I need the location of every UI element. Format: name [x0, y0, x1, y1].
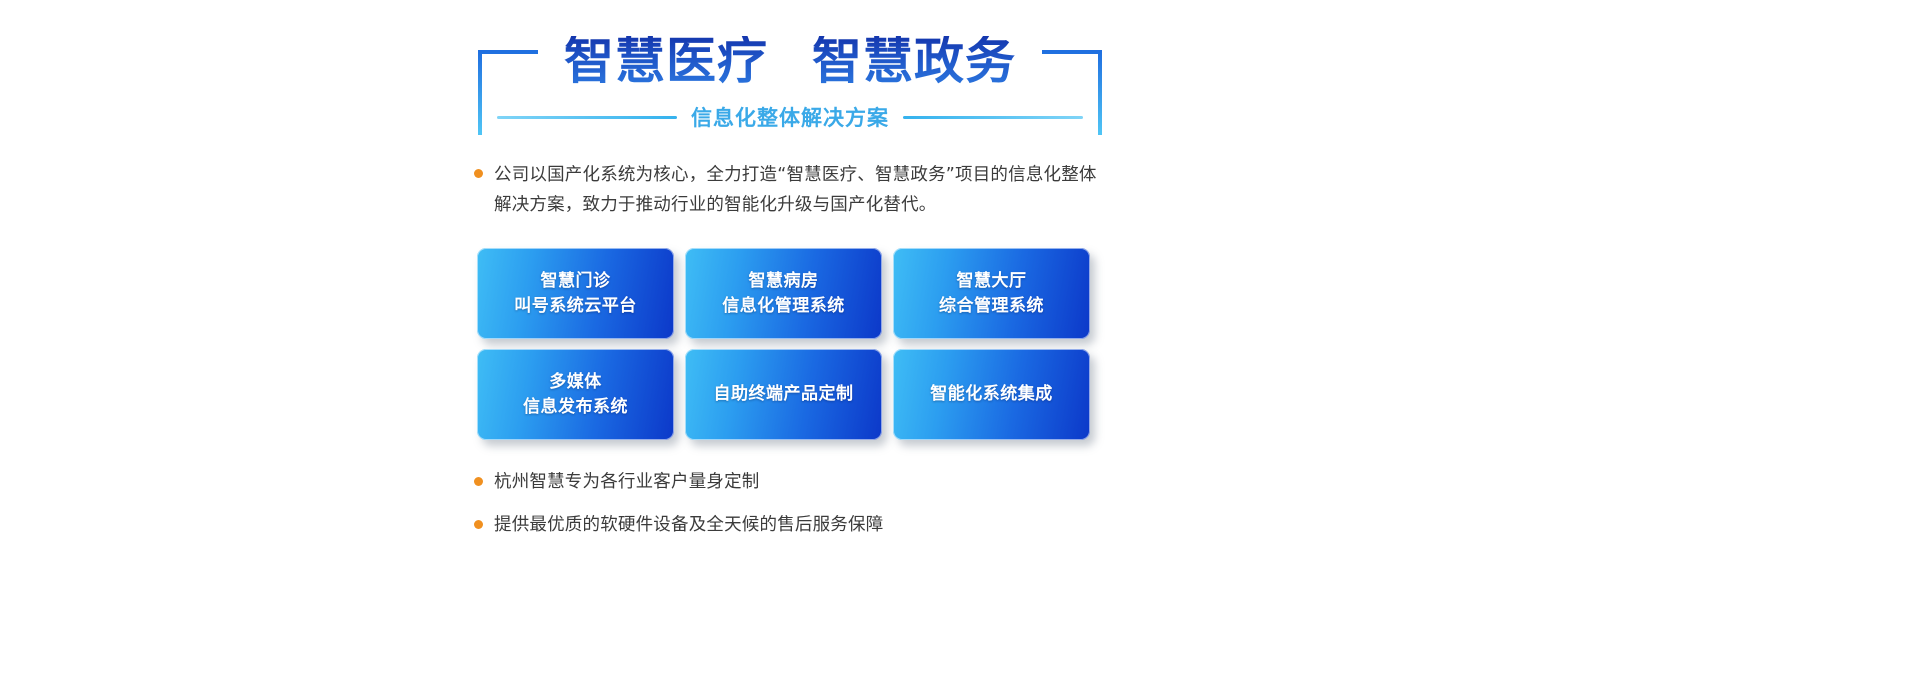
- card-label: 智慧病房 信息化管理系统: [716, 269, 851, 319]
- subtitle-rule-left: [497, 116, 677, 119]
- list-item-label: 提供最优质的软硬件设备及全天候的售后服务保障: [494, 513, 883, 537]
- list-item: 提供最优质的软硬件设备及全天候的售后服务保障: [474, 513, 1114, 537]
- solution-card[interactable]: 智慧门诊 叫号系统云平台: [477, 248, 674, 339]
- bullet-dot-icon: [474, 477, 483, 486]
- subtitle-rule-right: [903, 116, 1083, 119]
- subtitle-text: 信息化整体解决方案: [691, 102, 889, 132]
- header-banner: 智慧医疗 智慧政务 信息化整体解决方案: [0, 0, 1920, 150]
- list-item-label: 杭州智慧专为各行业客户量身定制: [494, 470, 760, 494]
- card-label: 多媒体 信息发布系统: [517, 370, 634, 420]
- solution-card[interactable]: 智能化系统集成: [893, 349, 1090, 440]
- solution-card[interactable]: 自助终端产品定制: [685, 349, 882, 440]
- card-label: 智慧大厅 综合管理系统: [933, 269, 1050, 319]
- footer-bullet-list: 杭州智慧专为各行业客户量身定制 提供最优质的软硬件设备及全天候的售后服务保障: [474, 470, 1114, 556]
- intro-text: 公司以国产化系统为核心，全力打造“智慧医疗、智慧政务”项目的信息化整体解决方案，…: [494, 160, 1104, 220]
- card-label: 智慧门诊 叫号系统云平台: [508, 269, 643, 319]
- card-label: 智能化系统集成: [924, 382, 1059, 407]
- bullet-dot-icon: [474, 520, 483, 529]
- page-title: 智慧医疗 智慧政务: [478, 26, 1102, 96]
- subtitle-row: 信息化整体解决方案: [478, 100, 1102, 134]
- list-item: 杭州智慧专为各行业客户量身定制: [474, 470, 1114, 494]
- title-word-2: 智慧政务: [812, 36, 1016, 86]
- solution-card[interactable]: 智慧大厅 综合管理系统: [893, 248, 1090, 339]
- solution-card[interactable]: 智慧病房 信息化管理系统: [685, 248, 882, 339]
- intro-paragraph: 公司以国产化系统为核心，全力打造“智慧医疗、智慧政务”项目的信息化整体解决方案，…: [474, 160, 1114, 220]
- title-word-1: 智慧医疗: [564, 36, 768, 86]
- card-label: 自助终端产品定制: [708, 382, 860, 407]
- solution-card-grid: 智慧门诊 叫号系统云平台 智慧病房 信息化管理系统 智慧大厅 综合管理系统 多媒…: [477, 248, 1090, 440]
- solution-card[interactable]: 多媒体 信息发布系统: [477, 349, 674, 440]
- page-root: 智慧医疗 智慧政务 信息化整体解决方案 公司以国产化系统为核心，全力打造“智慧医…: [0, 0, 1920, 680]
- bullet-dot-icon: [474, 169, 483, 178]
